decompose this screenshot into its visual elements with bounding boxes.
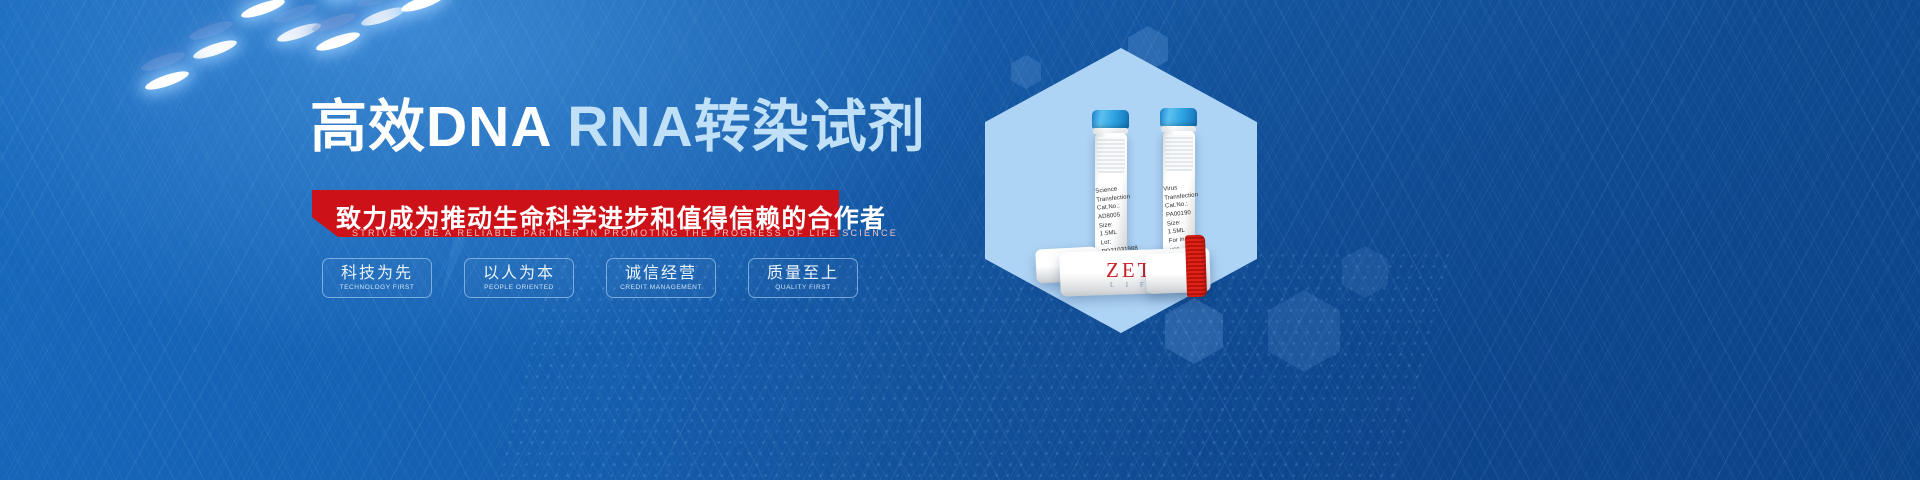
hexagon-decoration-bottom-right — [1268, 290, 1340, 372]
hexagon-decoration-far-right — [1342, 246, 1388, 298]
ribbon-english-slogan: STRIVE TO BE A RELIABLE PARTNER IN PROMO… — [352, 228, 898, 238]
feature-box-people-oriented[interactable]: 以人为本 PEOPLE ORIENTED — [464, 258, 574, 298]
hexagon-decoration-left — [1011, 55, 1041, 89]
feature-label-cn: 科技为先 — [341, 265, 413, 283]
feature-box-list: 科技为先 TECHNOLOGY FIRST 以人为本 PEOPLE ORIENT… — [322, 258, 858, 298]
hexagon-decoration-bottom-left — [1165, 298, 1223, 364]
vial-cap-right — [1160, 108, 1197, 127]
vial-red-cap — [1185, 235, 1207, 298]
feature-label-en: TECHNOLOGY FIRST — [340, 284, 415, 291]
headline-primary: 高效DNA — [310, 95, 550, 159]
feature-label-cn: 以人为本 — [483, 265, 555, 283]
feature-label-cn: 诚信经营 — [625, 265, 697, 283]
vial-cap-left — [1092, 110, 1129, 129]
page-title: 高效DNA RNA转染试剂 — [310, 99, 926, 156]
feature-label-en: QUALITY FIRST — [775, 284, 830, 291]
background-grid-texture-fine — [0, 0, 1920, 480]
feature-box-quality-first[interactable]: 质量至上 QUALITY FIRST — [748, 258, 858, 298]
promo-banner: Science Transfection Cat.No.: AD8005 Siz… — [0, 0, 1920, 480]
feature-label-en: PEOPLE ORIENTED — [484, 284, 554, 291]
vial-frost-right — [1165, 135, 1193, 171]
background-grid-texture — [0, 0, 1920, 480]
feature-label-en: CREDIT MANAGEMENT — [620, 284, 702, 291]
feature-label-cn: 质量至上 — [767, 265, 839, 283]
headline-secondary: RNA转染试剂 — [550, 95, 925, 159]
feature-box-technology-first[interactable]: 科技为先 TECHNOLOGY FIRST — [322, 258, 432, 298]
feature-box-credit-management[interactable]: 诚信经营 CREDIT MANAGEMENT — [606, 258, 716, 298]
vial-frost-left — [1097, 137, 1125, 173]
